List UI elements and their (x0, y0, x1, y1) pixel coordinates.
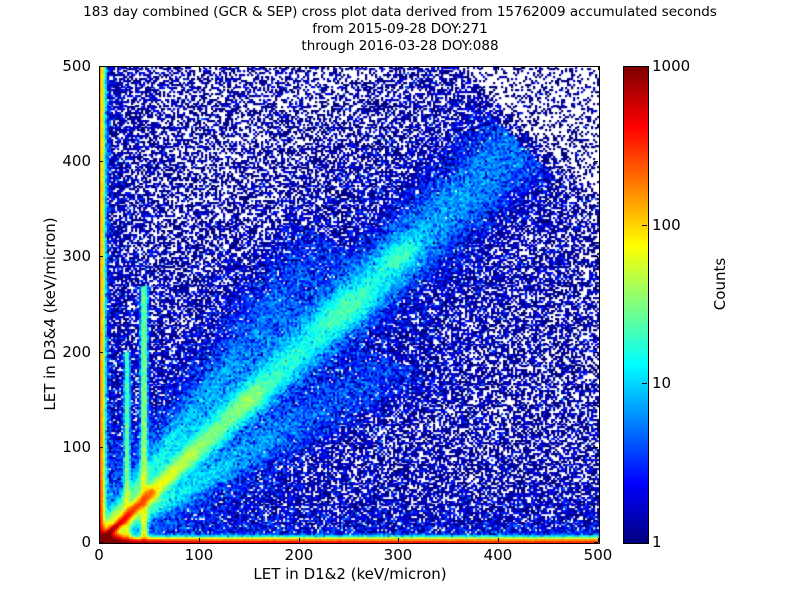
title-line-2: from 2015-09-28 DOY:271 (0, 21, 800, 38)
plot-area (99, 66, 600, 544)
colorbar-tick-label: 1 (652, 533, 662, 551)
colorbar-tick-label: 1000 (652, 57, 690, 75)
colorbar-tick-mark (642, 383, 647, 384)
y-tick-mark-right (594, 542, 598, 543)
page-title: 183 day combined (GCR & SEP) cross plot … (0, 4, 800, 55)
x-tick-label: 0 (94, 546, 104, 564)
x-tick-mark-top (398, 66, 399, 70)
colorbar-canvas (624, 67, 648, 543)
x-tick-mark (199, 538, 200, 542)
x-tick-mark-top (598, 66, 599, 70)
y-tick-mark-right (594, 161, 598, 162)
y-tick-mark (99, 542, 103, 543)
y-tick-mark-right (594, 352, 598, 353)
x-tick-label: 400 (484, 546, 513, 564)
x-tick-label: 300 (384, 546, 413, 564)
y-tick-mark-right (594, 447, 598, 448)
colorbar-tick-label: 10 (652, 374, 671, 392)
x-tick-mark (498, 538, 499, 542)
x-tick-label: 500 (584, 546, 613, 564)
y-tick-mark (99, 447, 103, 448)
x-tick-mark (598, 538, 599, 542)
x-tick-label: 200 (285, 546, 314, 564)
y-tick-mark (99, 161, 103, 162)
y-tick-mark (99, 256, 103, 257)
colorbar-tick-label: 100 (652, 216, 681, 234)
y-tick-mark-right (594, 256, 598, 257)
x-tick-label: 100 (185, 546, 214, 564)
colorbar-tick-mark (642, 225, 647, 226)
x-tick-mark-top (299, 66, 300, 70)
y-tick-label: 500 (41, 57, 91, 75)
y-tick-label: 0 (41, 533, 91, 551)
title-line-3: through 2016-03-28 DOY:088 (0, 38, 800, 55)
x-tick-mark-top (199, 66, 200, 70)
y-tick-mark (99, 352, 103, 353)
x-tick-mark (398, 538, 399, 542)
scatter-density-plot (100, 67, 599, 543)
x-tick-mark (299, 538, 300, 542)
colorbar-label: Counts (711, 184, 729, 384)
figure-canvas: 183 day combined (GCR & SEP) cross plot … (0, 0, 800, 600)
x-axis-label: LET in D1&2 (keV/micron) (0, 565, 700, 583)
colorbar-gradient (623, 66, 649, 544)
colorbar (623, 66, 649, 544)
y-tick-mark-right (594, 66, 598, 67)
y-axis-label: LET in D3&4 (keV/micron) (41, 114, 59, 514)
title-line-1: 183 day combined (GCR & SEP) cross plot … (0, 4, 800, 21)
y-tick-mark (99, 66, 103, 67)
x-tick-mark-top (498, 66, 499, 70)
